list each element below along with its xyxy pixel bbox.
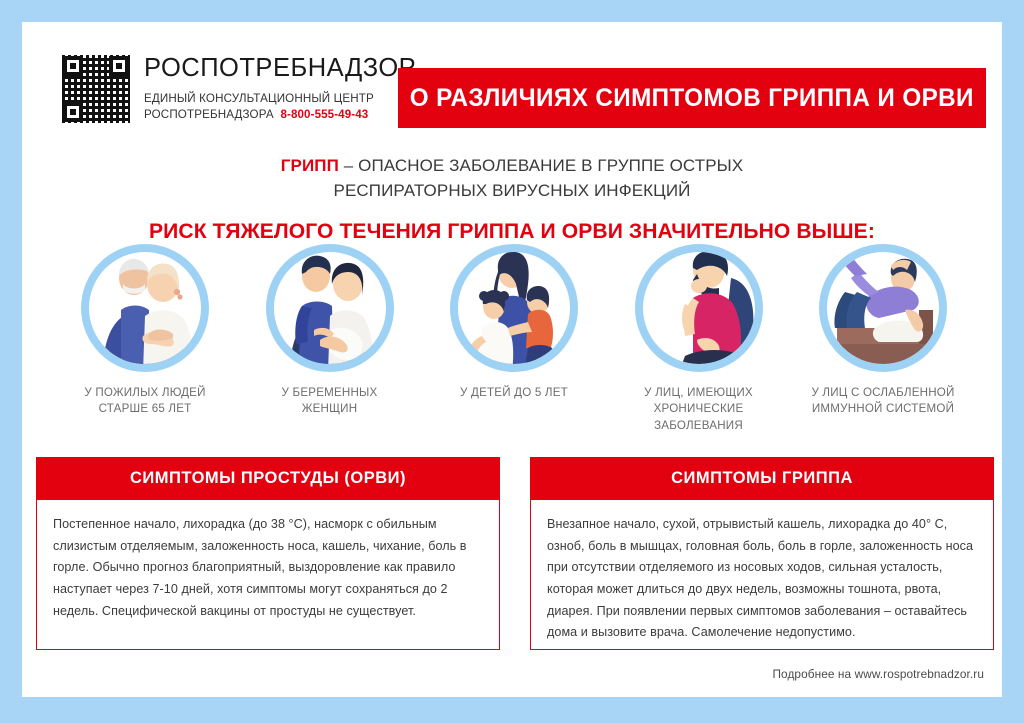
panel-flu-title: СИМПТОМЫ ГРИППА — [671, 469, 853, 488]
intro-accent-word: ГРИПП — [281, 156, 339, 175]
brand-subtitle-line2: РОСПОТРЕБНАДЗОРА 8-800-555-49-43 — [144, 107, 416, 123]
panel-flu-text: Внезапное начало, сухой, отрывистый каше… — [547, 514, 977, 644]
risk-group-caption: У БЕРЕМЕННЫХ ЖЕНЩИН — [282, 385, 378, 418]
man-lying-on-sofa-icon — [819, 244, 947, 372]
intro-block: ГРИПП – ОПАСНОЕ ЗАБОЛЕВАНИЕ В ГРУППЕ ОСТ… — [22, 154, 1002, 244]
risk-group-children: У ДЕТЕЙ ДО 5 ЛЕТ — [425, 244, 603, 434]
footer-link[interactable]: Подробнее на www.rospotrebnadzor.ru — [772, 667, 984, 681]
title-banner: О РАЗЛИЧИЯХ СИМПТОМОВ ГРИППА И ОРВИ — [398, 68, 986, 128]
panel-flu-body: Внезапное начало, сухой, отрывистый каше… — [530, 500, 994, 650]
brand-subtitle-line1: ЕДИНЫЙ КОНСУЛЬТАЦИОННЫЙ ЦЕНТР — [144, 91, 416, 107]
mother-with-children-icon — [450, 244, 578, 372]
risk-group-elderly: У ПОЖИЛЫХ ЛЮДЕЙ СТАРШЕ 65 ЛЕТ — [56, 244, 234, 434]
brand-subtitle: ЕДИНЫЙ КОНСУЛЬТАЦИОННЫЙ ЦЕНТР РОСПОТРЕБН… — [144, 91, 416, 124]
panel-cold-title: СИМПТОМЫ ПРОСТУДЫ (ОРВИ) — [130, 469, 406, 488]
poster-root: РОСПОТРЕБНАДЗОР ЕДИНЫЙ КОНСУЛЬТАЦИОННЫЙ … — [0, 0, 1024, 723]
panel-flu: СИМПТОМЫ ГРИППА Внезапное начало, сухой,… — [530, 457, 994, 650]
intro-line-1: ГРИПП – ОПАСНОЕ ЗАБОЛЕВАНИЕ В ГРУППЕ ОСТ… — [22, 154, 1002, 179]
risk-group-immune: У ЛИЦ С ОСЛАБЛЕННОЙ ИММУННОЙ СИСТЕМОЙ — [794, 244, 972, 434]
panel-cold-header: СИМПТОМЫ ПРОСТУДЫ (ОРВИ) — [36, 457, 500, 500]
man-coughing-icon — [635, 244, 763, 372]
risk-heading: РИСК ТЯЖЕЛОГО ТЕЧЕНИЯ ГРИППА И ОРВИ ЗНАЧ… — [32, 219, 992, 244]
brand-name: РОСПОТРЕБНАДЗОР — [144, 56, 416, 82]
panel-cold-body: Постепенное начало, лихорадка (до 38 °С)… — [36, 500, 500, 650]
qr-code-icon — [62, 55, 130, 123]
panel-flu-header: СИМПТОМЫ ГРИППА — [530, 457, 994, 500]
risk-group-caption: У ЛИЦ, ИМЕЮЩИХ ХРОНИЧЕСКИЕ ЗАБОЛЕВАНИЯ — [610, 385, 788, 434]
risk-groups: У ПОЖИЛЫХ ЛЮДЕЙ СТАРШЕ 65 ЛЕТ — [56, 244, 972, 434]
risk-group-caption: У ДЕТЕЙ ДО 5 ЛЕТ — [460, 385, 568, 401]
risk-group-caption: У ПОЖИЛЫХ ЛЮДЕЙ СТАРШЕ 65 ЛЕТ — [84, 385, 205, 418]
header: РОСПОТРЕБНАДЗОР ЕДИНЫЙ КОНСУЛЬТАЦИОННЫЙ … — [22, 22, 1002, 137]
hotline-phone: 8-800-555-49-43 — [280, 108, 368, 121]
intro-line-1-rest: – ОПАСНОЕ ЗАБОЛЕВАНИЕ В ГРУППЕ ОСТРЫХ — [339, 156, 743, 175]
elderly-couple-icon — [81, 244, 209, 372]
intro-line-2: РЕСПИРАТОРНЫХ ВИРУСНЫХ ИНФЕКЦИЙ — [22, 179, 1002, 204]
risk-group-caption: У ЛИЦ С ОСЛАБЛЕННОЙ ИММУННОЙ СИСТЕМОЙ — [811, 385, 954, 418]
pregnant-couple-icon — [266, 244, 394, 372]
brand-block: РОСПОТРЕБНАДЗОР ЕДИНЫЙ КОНСУЛЬТАЦИОННЫЙ … — [62, 55, 416, 123]
risk-group-pregnant: У БЕРЕМЕННЫХ ЖЕНЩИН — [241, 244, 419, 434]
panel-cold: СИМПТОМЫ ПРОСТУДЫ (ОРВИ) Постепенное нач… — [36, 457, 500, 650]
page-title: О РАЗЛИЧИЯХ СИМПТОМОВ ГРИППА И ОРВИ — [410, 84, 974, 113]
panel-cold-text: Постепенное начало, лихорадка (до 38 °С)… — [53, 514, 483, 622]
brand-text: РОСПОТРЕБНАДЗОР ЕДИНЫЙ КОНСУЛЬТАЦИОННЫЙ … — [144, 55, 416, 123]
risk-group-chronic: У ЛИЦ, ИМЕЮЩИХ ХРОНИЧЕСКИЕ ЗАБОЛЕВАНИЯ — [610, 244, 788, 434]
symptom-panels: СИМПТОМЫ ПРОСТУДЫ (ОРВИ) Постепенное нач… — [36, 457, 994, 650]
poster-sheet: РОСПОТРЕБНАДЗОР ЕДИНЫЙ КОНСУЛЬТАЦИОННЫЙ … — [22, 22, 1002, 697]
